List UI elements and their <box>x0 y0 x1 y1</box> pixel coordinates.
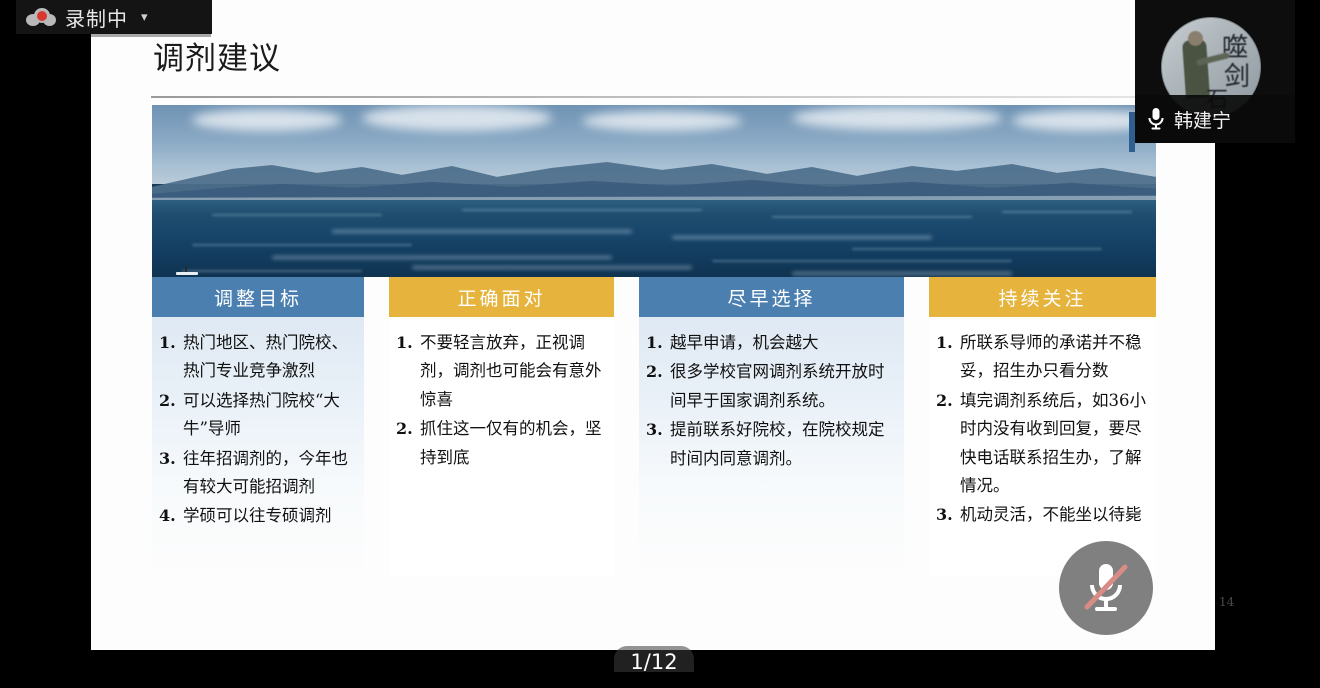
list-item: 可以选择热门院校“大牛”导师 <box>158 387 360 444</box>
participant-name-bar: 韩建宁 <box>1135 95 1295 143</box>
column-header: 尽早选择 <box>639 277 904 317</box>
cloud-shape <box>582 111 742 131</box>
list-item: 机动灵活，不能坐以待毙 <box>935 501 1152 529</box>
list-item: 填完调剂系统后，如36小时内没有收到回复，要尽快电话联系招生办，了解情况。 <box>935 387 1152 501</box>
page-indicator: 1/12 <box>614 650 694 674</box>
meeting-screen-share-view: 调剂建议 <box>0 0 1320 688</box>
content-columns: 调整目标 热门地区、热门院校、热门专业竞争激烈 可以选择热门院校“大牛”导师 往… <box>152 277 1156 577</box>
list-item: 学硕可以往专硕调剂 <box>158 502 360 530</box>
list-item: 所联系导师的承诺并不稳妥，招生办只看分数 <box>935 329 1152 386</box>
column-choose-early: 尽早选择 越早申请，机会越大 很多学校官网调剂系统开放时间早于国家调剂系统。 提… <box>639 277 904 577</box>
cloud-record-icon <box>26 7 56 27</box>
presentation-slide: 调剂建议 <box>91 0 1215 650</box>
column-body: 所联系导师的承诺并不稳妥，招生办只看分数 填完调剂系统后，如36小时内没有收到回… <box>929 317 1156 577</box>
column-face-correctly: 正确面对 不要轻言放弃，正视调剂，调剂也可能会有意外惊喜 抓住这一仅有的机会，坚… <box>389 277 614 577</box>
participant-name: 韩建宁 <box>1174 106 1231 133</box>
column-item-list: 越早申请，机会越大 很多学校官网调剂系统开放时间早于国家调剂系统。 提前联系好院… <box>645 329 900 473</box>
list-item: 越早申请，机会越大 <box>645 329 900 357</box>
cloud-shape <box>362 105 552 131</box>
column-keep-watching: 持续关注 所联系导师的承诺并不稳妥，招生办只看分数 填完调剂系统后，如36小时内… <box>929 277 1156 577</box>
column-header: 调整目标 <box>152 277 364 317</box>
microphone-muted-icon <box>1081 561 1131 615</box>
column-header: 持续关注 <box>929 277 1156 317</box>
title-divider <box>151 96 1158 98</box>
recording-status-badge[interactable]: 录制中 ▾ <box>16 0 212 34</box>
column-adjust-goal: 调整目标 热门地区、热门院校、热门专业竞争激烈 可以选择热门院校“大牛”导师 往… <box>152 277 364 577</box>
cloud-shape <box>792 106 1002 130</box>
column-body: 越早申请，机会越大 很多学校官网调剂系统开放时间早于国家调剂系统。 提前联系好院… <box>639 317 904 577</box>
list-item: 抓住这一仅有的机会，坚持到底 <box>395 415 610 472</box>
chevron-down-icon[interactable]: ▾ <box>141 9 148 25</box>
column-gap <box>614 277 639 577</box>
list-item: 不要轻言放弃，正视调剂，调剂也可能会有意外惊喜 <box>395 329 610 414</box>
column-gap <box>364 277 389 577</box>
list-item: 往年招调剂的，今年也有较大可能招调剂 <box>158 445 360 502</box>
photo-mountains <box>152 157 1156 202</box>
column-gap <box>904 277 929 577</box>
column-header: 正确面对 <box>389 277 614 317</box>
cloud-shape <box>192 109 342 131</box>
seascape-photo <box>152 105 1156 277</box>
tile-edge-accent <box>1129 112 1135 152</box>
column-item-list: 所联系导师的承诺并不稳妥，招生办只看分数 填完调剂系统后，如36小时内没有收到回… <box>935 329 1152 530</box>
microphone-muted-button[interactable] <box>1059 541 1153 635</box>
boat-icon <box>176 266 198 275</box>
list-item: 提前联系好院校，在院校规定时间内同意调剂。 <box>645 416 900 473</box>
list-item: 热门地区、热门院校、热门专业竞争激烈 <box>158 329 360 386</box>
participant-video-tile[interactable]: 噬 剑 石 韩建宁 <box>1135 0 1295 143</box>
column-body: 热门地区、热门院校、热门专业竞争激烈 可以选择热门院校“大牛”导师 往年招调剂的… <box>152 317 364 577</box>
column-item-list: 热门地区、热门院校、热门专业竞争激烈 可以选择热门院校“大牛”导师 往年招调剂的… <box>158 329 360 531</box>
page-title: 调剂建议 <box>153 44 281 75</box>
recording-label: 录制中 <box>65 3 128 32</box>
column-item-list: 不要轻言放弃，正视调剂，调剂也可能会有意外惊喜 抓住这一仅有的机会，坚持到底 <box>395 329 610 472</box>
list-item: 很多学校官网调剂系统开放时间早于国家调剂系统。 <box>645 358 900 415</box>
slide-number: 14 <box>1219 595 1234 609</box>
microphone-icon <box>1148 107 1164 131</box>
column-body: 不要轻言放弃，正视调剂，调剂也可能会有意外惊喜 抓住这一仅有的机会，坚持到底 <box>389 317 614 577</box>
photo-sea <box>152 200 1156 277</box>
